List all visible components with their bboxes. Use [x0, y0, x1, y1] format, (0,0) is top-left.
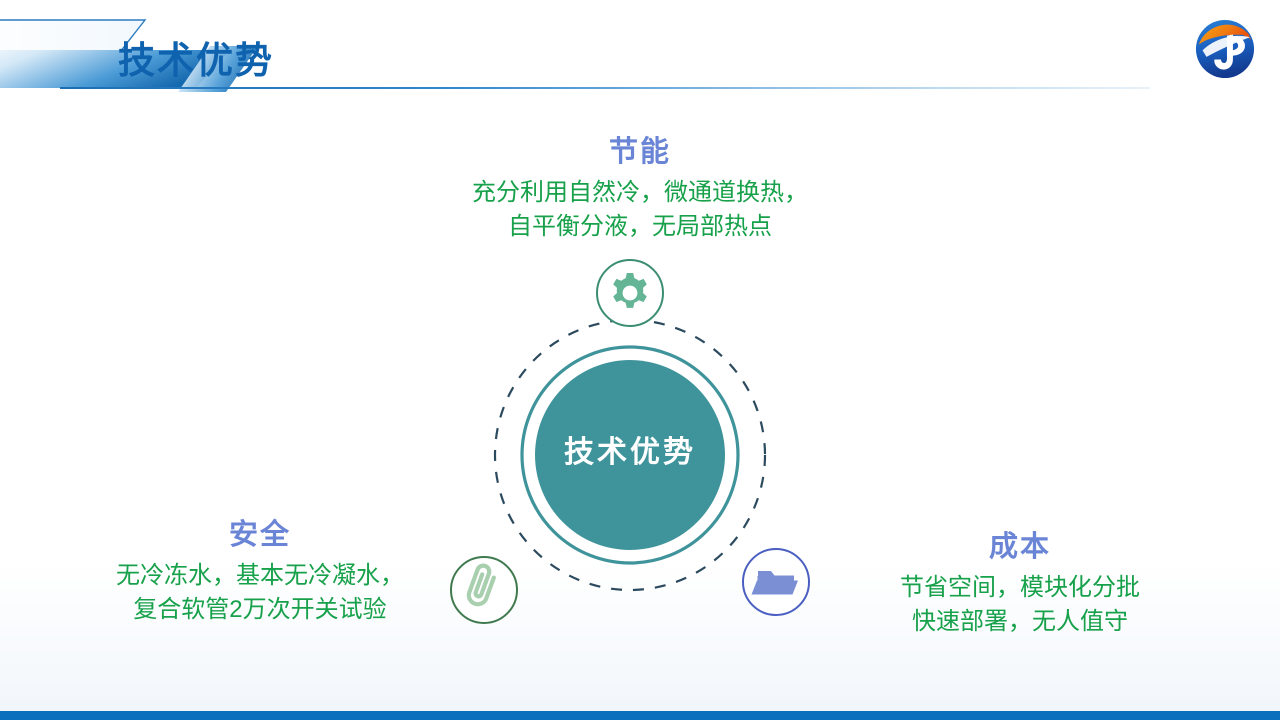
callout-safety-line-1: 无冷冻水，基本无冷凝水， [40, 559, 480, 594]
footer-accent-bar [0, 711, 1280, 720]
page-title: 技术优势 [118, 30, 274, 84]
slide-header: 技术优势 [0, 0, 1280, 92]
callout-energy: 节能 充分利用自然冷，微通道换热， 自平衡分液，无局部热点 [340, 135, 940, 245]
callout-energy-title: 节能 [340, 135, 940, 170]
callout-cost: 成本 节省空间，模块化分批 快速部署，无人值守 [800, 530, 1240, 640]
callout-cost-line-1: 节省空间，模块化分批 [800, 571, 1240, 606]
callout-energy-line-2: 自平衡分液，无局部热点 [340, 210, 940, 245]
callout-safety-title: 安全 [40, 518, 480, 553]
company-circle-logo [1192, 16, 1258, 82]
callout-cost-title: 成本 [800, 530, 1240, 565]
slide-canvas: 技术优势 [0, 0, 1280, 720]
technology-advantage-diagram [430, 255, 830, 635]
center-teal-disc [535, 360, 725, 550]
gear-icon-badge[interactable] [597, 260, 663, 326]
callout-safety-line-2: 复合软管2万次开关试验 [40, 593, 480, 628]
header-divider-rule [60, 87, 1150, 89]
callout-cost-line-2: 快速部署，无人值守 [800, 605, 1240, 640]
callout-energy-line-1: 充分利用自然冷，微通道换热， [340, 176, 940, 211]
callout-safety: 安全 无冷冻水，基本无冷凝水， 复合软管2万次开关试验 [40, 518, 480, 628]
